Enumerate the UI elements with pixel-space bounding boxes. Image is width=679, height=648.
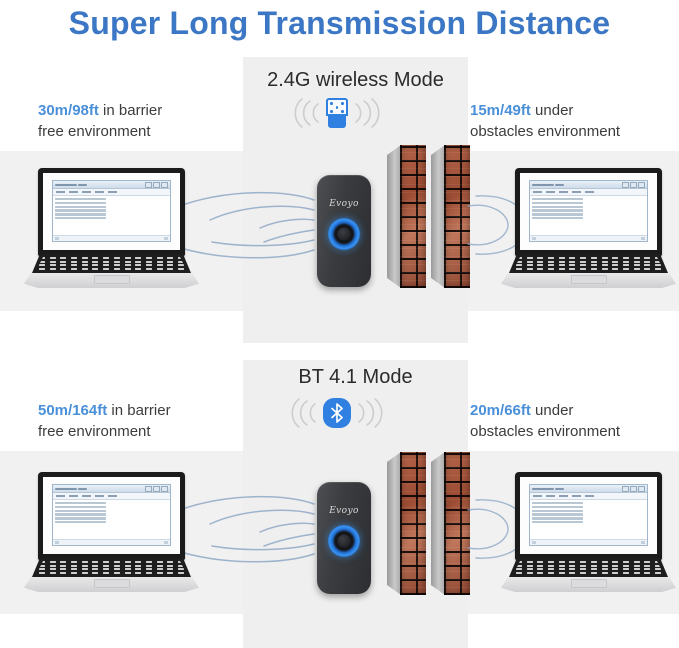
section-title-bt: BT 4.1 Mode [243,366,468,389]
scan-app-window [529,484,648,546]
caption-top-left: 30m/98ft in barrier free environment [38,100,238,143]
laptop-keys [513,560,664,575]
brick-wall-front-face [400,145,426,288]
brick-wall [400,145,426,288]
app-status-bar [53,539,170,545]
distance-value-24g-free: 30m/98ft [38,102,99,119]
app-content-area [53,196,170,235]
app-title-bar [53,485,170,493]
scanner-scan-button [328,218,360,250]
usb-dongle-dots [330,102,344,112]
app-status-bar [530,235,647,241]
app-menu-bar [530,189,647,196]
brick-wall-side-face [387,145,401,288]
laptop-trackpad [571,275,607,284]
caption-text-24g-free-line2: free environment [38,123,151,140]
scan-app-window [52,180,171,242]
app-title-bar [530,485,647,493]
scan-app-window [52,484,171,546]
laptop-keys [36,560,187,575]
laptop-trackpad [94,579,130,588]
caption-text-bt-free-line2: free environment [38,423,151,440]
laptop-base [501,558,676,592]
app-status-bar [53,235,170,241]
brick-wall-side-face [387,452,401,595]
caption-text-24g-free-line1: in barrier [99,102,162,119]
app-content-area [530,196,647,235]
app-status-bar [530,539,647,545]
distance-value-bt-free: 50m/164ft [38,402,107,419]
laptop-screen [520,477,657,554]
scanner-brand-label: Evoyo [317,506,371,516]
barcode-scanner-24g: Evoyo [317,175,371,287]
barcode-scanner-bt: Evoyo [317,482,371,594]
distance-value-24g-obstacle: 15m/49ft [470,102,531,119]
laptop-base [24,558,199,592]
bluetooth-glyph [330,403,344,423]
app-menu-bar [53,189,170,196]
caption-text-24g-obs-line2: obstacles environment [470,123,620,140]
laptop-lid [38,168,185,256]
laptop-trackpad [94,275,130,284]
laptop-trackpad [571,579,607,588]
caption-text-bt-free-line1: in barrier [107,402,170,419]
laptop-left-bt [24,472,199,592]
laptop-base [501,254,676,288]
laptop-screen [43,173,180,250]
caption-text-24g-obs-line1: under [531,102,574,119]
laptop-right-bt [501,472,676,592]
brick-wall [400,452,426,595]
brick-wall-side-face [431,452,445,595]
app-menu-bar [530,493,647,500]
caption-bottom-right: 20m/66ft under obstacles environment [470,400,675,443]
scan-app-window [529,180,648,242]
app-content-area [53,500,170,539]
laptop-base [24,254,199,288]
page-title: Super Long Transmission Distance [0,0,679,46]
caption-text-bt-obs-line1: under [531,402,574,419]
caption-top-right: 15m/49ft under obstacles environment [470,100,675,143]
scanner-brand-label: Evoyo [317,199,371,209]
app-content-area [530,500,647,539]
brick-wall-front-face [400,452,426,595]
brick-wall-side-face [431,145,445,288]
wave-arcs-left-bt [285,398,319,428]
wave-arcs-left-24g [288,98,322,128]
laptop-left-24g [24,168,199,288]
laptop-right-24g [501,168,676,288]
laptop-screen [43,477,180,554]
app-title-bar [530,181,647,189]
bluetooth-icon [323,398,351,428]
infographic-canvas: Super Long Transmission Distance 2.4G wi… [0,0,679,648]
app-title-bar [53,181,170,189]
laptop-lid [515,168,662,256]
scanner-scan-button [328,525,360,557]
laptop-lid [38,472,185,560]
laptop-lid [515,472,662,560]
laptop-keys [36,256,187,271]
laptop-keys [513,256,664,271]
app-menu-bar [53,493,170,500]
section-title-24g: 2.4G wireless Mode [243,69,468,92]
distance-value-bt-obstacle: 20m/66ft [470,402,531,419]
caption-bottom-left: 50m/164ft in barrier free environment [38,400,243,443]
usb-dongle-connector [328,115,346,128]
laptop-screen [520,173,657,250]
wave-arcs-right-24g [352,98,386,128]
wave-arcs-right-bt [355,398,389,428]
caption-text-bt-obs-line2: obstacles environment [470,423,620,440]
bluetooth-icon-group [285,398,389,428]
usb-dongle-icon [326,98,348,128]
usb-dongle-icon-group [288,98,386,128]
